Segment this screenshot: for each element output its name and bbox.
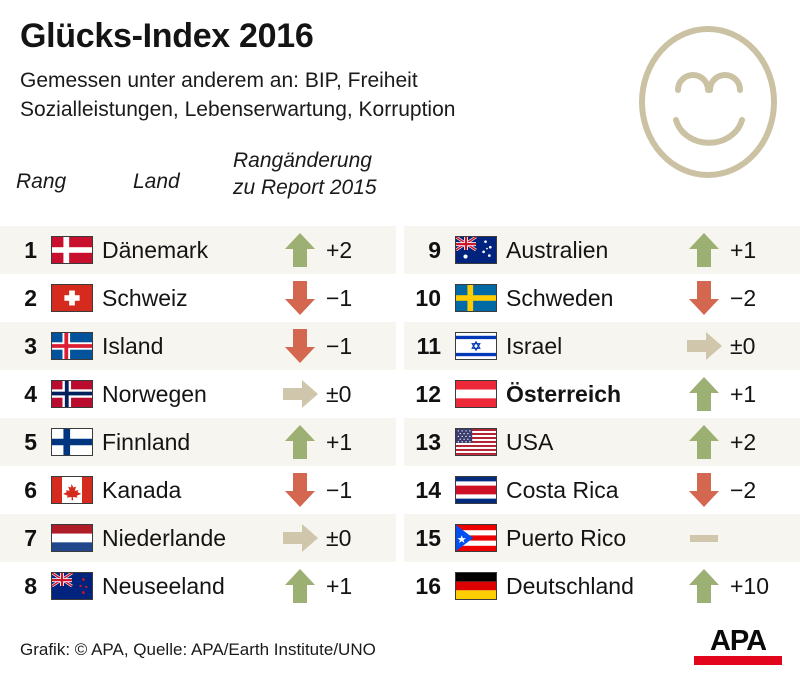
rank-change-value: +2 (326, 237, 352, 264)
rank-value: 4 (0, 381, 46, 408)
flag-newzealand-icon (51, 572, 93, 600)
ranking-table: 1 Dänemark +22 Schweiz −13 Island −14 No… (0, 226, 800, 610)
flag-cell (46, 572, 98, 600)
rank-change-cell: +2 (682, 422, 800, 462)
rank-change-cell: +2 (278, 230, 396, 270)
footer: Grafik: © APA, Quelle: APA/Earth Institu… (0, 612, 800, 682)
table-row: 5 Finnland +1 (0, 418, 396, 466)
column-header-country: Land (133, 170, 180, 194)
subtitle-line-2: Sozialleistungen, Lebenserwartung, Korru… (20, 95, 620, 124)
rank-change-value: +1 (326, 573, 352, 600)
rank-change-value: +1 (326, 429, 352, 456)
flag-cell (46, 236, 98, 264)
rank-change-cell (682, 518, 800, 558)
table-row: 8 Neuseeland +1 (0, 562, 396, 610)
flag-cell (46, 284, 98, 312)
country-name: Australien (502, 237, 682, 264)
arrow-down-icon (278, 326, 322, 366)
arrow-flat-icon (278, 518, 322, 558)
rank-value: 15 (404, 525, 450, 552)
flag-puertorico-icon (455, 524, 497, 552)
rank-change-value: −1 (326, 333, 352, 360)
flag-norway-icon (51, 380, 93, 408)
country-name: Dänemark (98, 237, 278, 264)
country-name: Finnland (98, 429, 278, 456)
rank-value: 13 (404, 429, 450, 456)
subtitle-line-1: Gemessen unter anderem an: BIP, Freiheit (20, 66, 620, 95)
table-row: 11 Israel ±0 (404, 322, 800, 370)
table-row: 13 USA +2 (404, 418, 800, 466)
flag-finland-icon (51, 428, 93, 456)
page-title: Glücks-Index 2016 (20, 17, 314, 56)
apa-logo-bar (694, 656, 782, 665)
rank-change-cell: +1 (278, 422, 396, 462)
rank-change-value: −2 (730, 477, 756, 504)
arrow-flat-icon (278, 374, 322, 414)
table-row: 16 Deutschland +10 (404, 562, 800, 610)
table-row: 4 Norwegen ±0 (0, 370, 396, 418)
subtitle: Gemessen unter anderem an: BIP, Freiheit… (20, 66, 620, 124)
arrow-up-icon (278, 422, 322, 462)
flag-cell (46, 380, 98, 408)
flag-costarica-icon (455, 476, 497, 504)
rank-change-value: +2 (730, 429, 756, 456)
rank-change-cell: ±0 (682, 326, 800, 366)
arrow-down-icon (278, 278, 322, 318)
table-row: 12 Österreich +1 (404, 370, 800, 418)
flag-cell (46, 332, 98, 360)
rank-change-value: +10 (730, 573, 769, 600)
rank-value: 9 (404, 237, 450, 264)
rank-value: 11 (404, 333, 450, 360)
flag-cell (450, 236, 502, 264)
rank-change-value: +1 (730, 381, 756, 408)
rank-value: 10 (404, 285, 450, 312)
rank-change-cell: ±0 (278, 374, 396, 414)
rank-change-value: ±0 (326, 381, 351, 408)
flag-cell (450, 572, 502, 600)
table-row: 9 Australien +1 (404, 226, 800, 274)
country-name: Schweden (502, 285, 682, 312)
rank-change-value: ±0 (326, 525, 351, 552)
rank-value: 6 (0, 477, 46, 504)
country-name: Deutschland (502, 573, 682, 600)
rank-value: 5 (0, 429, 46, 456)
flag-cell (46, 428, 98, 456)
table-row: 3 Island −1 (0, 322, 396, 370)
flag-iceland-icon (51, 332, 93, 360)
rank-change-cell: −1 (278, 470, 396, 510)
flag-cell (450, 332, 502, 360)
rank-change-cell: +1 (682, 230, 800, 270)
country-name: Neuseeland (98, 573, 278, 600)
country-name: Island (98, 333, 278, 360)
country-name: Schweiz (98, 285, 278, 312)
rank-value: 1 (0, 237, 46, 264)
arrow-dash-icon (682, 518, 726, 558)
header: Glücks-Index 2016 Gemessen unter anderem… (0, 0, 800, 215)
ranking-column-left: 1 Dänemark +22 Schweiz −13 Island −14 No… (0, 226, 396, 610)
rank-change-cell: −1 (278, 326, 396, 366)
arrow-flat-icon (682, 326, 726, 366)
arrow-up-icon (682, 422, 726, 462)
arrow-up-icon (682, 230, 726, 270)
ranking-column-right: 9 Australien +110 Schweden −211 (404, 226, 800, 610)
flag-cell (450, 428, 502, 456)
rank-change-value: −1 (326, 285, 352, 312)
table-row: 6 Kanada −1 (0, 466, 396, 514)
rank-value: 12 (404, 381, 450, 408)
rank-change-value: +1 (730, 237, 756, 264)
country-name: Kanada (98, 477, 278, 504)
flag-switzerland-icon (51, 284, 93, 312)
flag-cell (450, 524, 502, 552)
column-header-rank: Rang (16, 170, 66, 194)
flag-cell (46, 524, 98, 552)
rank-value: 2 (0, 285, 46, 312)
arrow-up-icon (682, 566, 726, 606)
flag-denmark-icon (51, 236, 93, 264)
flag-cell (450, 284, 502, 312)
rank-change-cell: +1 (682, 374, 800, 414)
flag-cell (450, 476, 502, 504)
table-row: 2 Schweiz −1 (0, 274, 396, 322)
country-name: Norwegen (98, 381, 278, 408)
table-row: 14 Costa Rica −2 (404, 466, 800, 514)
flag-israel-icon (455, 332, 497, 360)
column-header-change: Rangänderung zu Report 2015 (233, 147, 377, 201)
rank-change-value: −1 (326, 477, 352, 504)
flag-canada-icon (51, 476, 93, 504)
rank-change-value: −2 (730, 285, 756, 312)
flag-germany-icon (455, 572, 497, 600)
rank-change-cell: −2 (682, 278, 800, 318)
rank-change-cell: −2 (682, 470, 800, 510)
rank-value: 7 (0, 525, 46, 552)
rank-change-value: ±0 (730, 333, 755, 360)
table-row: 7 Niederlande ±0 (0, 514, 396, 562)
flag-austria-icon (455, 380, 497, 408)
rank-value: 3 (0, 333, 46, 360)
column-header-change-line-1: Rangänderung (233, 147, 377, 174)
rank-change-cell: +1 (278, 566, 396, 606)
country-name: Niederlande (98, 525, 278, 552)
apa-logo: APA (694, 626, 782, 666)
arrow-up-icon (278, 566, 322, 606)
rank-change-cell: −1 (278, 278, 396, 318)
country-name: Puerto Rico (502, 525, 682, 552)
rank-change-cell: +10 (682, 566, 800, 606)
arrow-up-icon (682, 374, 726, 414)
country-name: Österreich (502, 381, 682, 408)
rank-value: 14 (404, 477, 450, 504)
arrow-down-icon (682, 278, 726, 318)
flag-usa-icon (455, 428, 497, 456)
country-name: Costa Rica (502, 477, 682, 504)
arrow-up-icon (278, 230, 322, 270)
column-headers: Rang Land Rangänderung zu Report 2015 (0, 145, 800, 207)
flag-netherlands-icon (51, 524, 93, 552)
arrow-down-icon (682, 470, 726, 510)
country-name: USA (502, 429, 682, 456)
arrow-down-icon (278, 470, 322, 510)
table-row: 10 Schweden −2 (404, 274, 800, 322)
rank-value: 16 (404, 573, 450, 600)
column-header-change-line-2: zu Report 2015 (233, 174, 377, 201)
rank-change-cell: ±0 (278, 518, 396, 558)
apa-logo-text: APA (694, 626, 782, 656)
rank-value: 8 (0, 573, 46, 600)
flag-cell (450, 380, 502, 408)
flag-australia-icon (455, 236, 497, 264)
country-name: Israel (502, 333, 682, 360)
table-row: 1 Dänemark +2 (0, 226, 396, 274)
table-row: 15 Puerto Rico (404, 514, 800, 562)
source-credit: Grafik: © APA, Quelle: APA/Earth Institu… (20, 640, 376, 660)
flag-sweden-icon (455, 284, 497, 312)
flag-cell (46, 476, 98, 504)
